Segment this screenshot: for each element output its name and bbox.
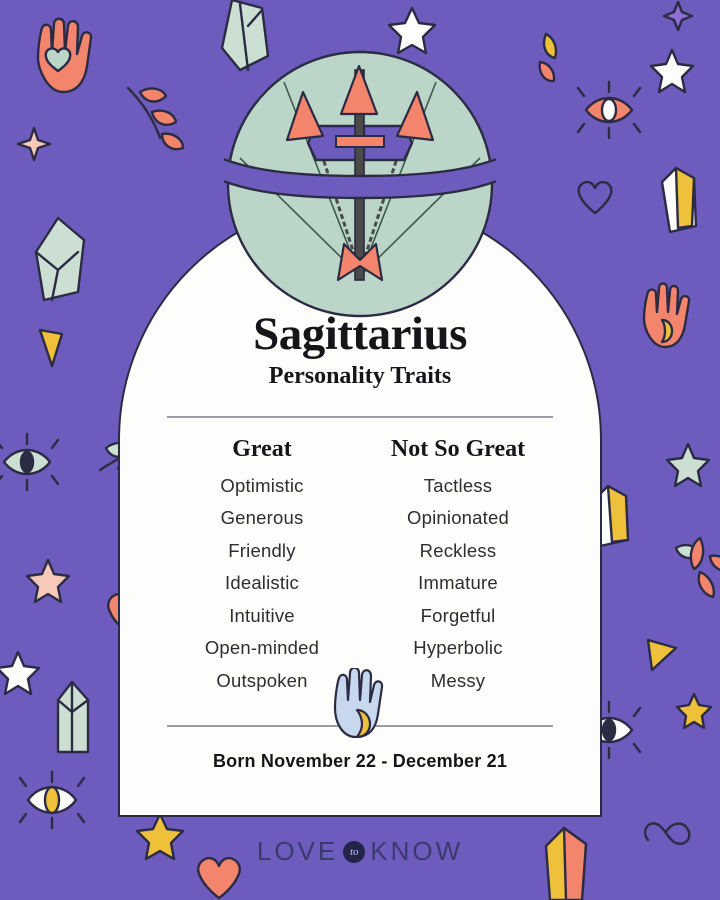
sparkle-star-icon xyxy=(18,128,50,160)
triangle-yellow-small-icon xyxy=(648,640,676,670)
trait-item: Friendly xyxy=(167,542,357,561)
logo-word-love: LOVE xyxy=(257,836,338,867)
trait-item: Generous xyxy=(167,509,357,528)
star-sage-icon xyxy=(667,444,709,486)
triangle-yellow-icon xyxy=(40,330,62,366)
logo-word-know: KNOW xyxy=(370,836,463,867)
column-heading-great: Great xyxy=(167,436,357,463)
trait-item: Opinionated xyxy=(363,509,553,528)
leaf-sprig-yellow-icon xyxy=(540,34,556,81)
leaf-branch-coral-icon xyxy=(128,88,183,149)
star-white-icon xyxy=(651,50,693,92)
hand-moon-purple-icon xyxy=(644,284,689,348)
star-white-bottom-icon xyxy=(0,652,39,694)
column-heading-not-so-great: Not So Great xyxy=(363,436,553,463)
traits-columns: Great Optimistic Generous Friendly Ideal… xyxy=(167,436,553,705)
trait-item: Forgetful xyxy=(363,607,553,626)
sagittarius-infographic: Sagittarius Personality Traits Great Opt… xyxy=(0,0,720,900)
divider-top xyxy=(167,416,553,418)
traits-column-great: Great Optimistic Generous Friendly Ideal… xyxy=(167,436,357,705)
traits-column-not-so-great: Not So Great Tactless Opinionated Reckle… xyxy=(363,436,553,705)
eye-sage-icon xyxy=(0,434,58,490)
trait-item: Immature xyxy=(363,574,553,593)
birth-date-range: Born November 22 - December 21 xyxy=(118,751,602,772)
trait-item: Open-minded xyxy=(167,639,357,658)
page-subtitle: Personality Traits xyxy=(269,364,451,388)
trait-item: Messy xyxy=(363,672,553,691)
hand-moon-icon xyxy=(329,668,391,738)
crystal-sage-icon xyxy=(36,218,84,300)
star-outline-icon xyxy=(389,8,435,53)
page-title: Sagittarius xyxy=(253,311,467,358)
logo-badge-to: to xyxy=(343,841,365,863)
eye-yellow-icon xyxy=(20,772,84,828)
trait-item: Optimistic xyxy=(167,477,357,496)
trait-item: Reckless xyxy=(363,542,553,561)
trait-item: Tactless xyxy=(363,477,553,496)
eye-coral-icon xyxy=(578,82,640,138)
crystal-sage-bottom-icon xyxy=(58,682,88,752)
trait-item: Hyperbolic xyxy=(363,639,553,658)
star-yellow-small-icon xyxy=(677,694,711,728)
leaf-coral-spray-icon xyxy=(676,538,720,597)
trait-item: Intuitive xyxy=(167,607,357,626)
hasma-hand-heart-icon xyxy=(38,19,91,92)
star-coral-icon xyxy=(27,560,69,602)
lovetoknow-logo[interactable]: LOVE to KNOW xyxy=(0,836,720,867)
trait-item: Idealistic xyxy=(167,574,357,593)
sparkle-star-small-icon xyxy=(664,2,692,30)
crystal-yellow-icon xyxy=(662,168,696,232)
